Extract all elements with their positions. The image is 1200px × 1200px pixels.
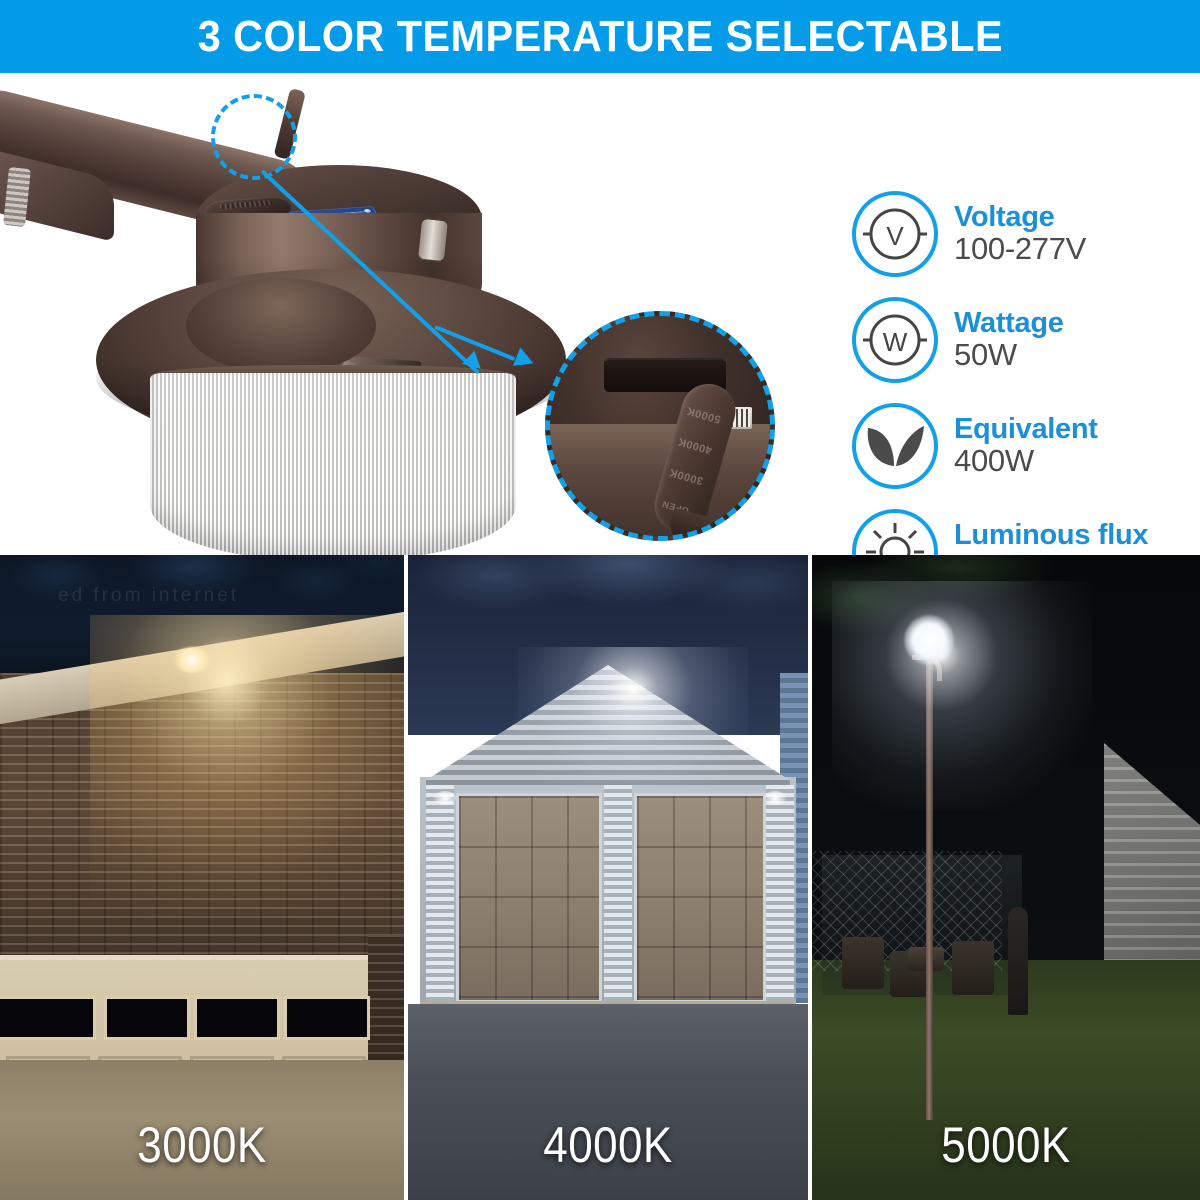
cover-marking-5000k: 5000K bbox=[685, 404, 722, 425]
cool-light-glow bbox=[832, 581, 1092, 811]
cct-switch-detail-callout: 5000K 4000K 3000K OPEN bbox=[545, 311, 775, 541]
spec-label-voltage: Voltage bbox=[954, 203, 1086, 233]
photo-label-4000k: 4000K bbox=[432, 1116, 784, 1174]
door-panel-grid bbox=[459, 796, 599, 1000]
garage-door-left bbox=[456, 793, 602, 1003]
spec-value-equivalent: 400W bbox=[954, 445, 1098, 477]
spec-label-equivalent: Equivalent bbox=[954, 415, 1098, 445]
photo-watermark: ed from internet bbox=[58, 585, 239, 607]
door-panel-grid bbox=[637, 796, 763, 1000]
spec-list: V Voltage 100-277V W bbox=[852, 181, 1188, 555]
patio-chair bbox=[952, 941, 994, 995]
photo-4000k: 4000K bbox=[408, 555, 808, 1200]
spec-row-equivalent: Equivalent 400W bbox=[852, 393, 1188, 499]
garage-door-right bbox=[634, 793, 766, 1003]
door-window bbox=[104, 996, 190, 1040]
photo-3000k: ed from internet 3000K bbox=[0, 555, 404, 1200]
spec-value-wattage: 50W bbox=[954, 339, 1064, 371]
door-window bbox=[284, 996, 370, 1040]
installed-lamp-glow bbox=[904, 615, 954, 665]
photo-label-3000k: 3000K bbox=[24, 1116, 380, 1174]
brick-wall bbox=[0, 673, 404, 973]
svg-text:W: W bbox=[883, 327, 908, 357]
neutral-light-glow bbox=[518, 647, 748, 797]
cover-marking-3000k: 3000K bbox=[668, 466, 705, 487]
spec-label-wattage: Wattage bbox=[954, 309, 1064, 339]
sun-icon bbox=[852, 509, 938, 555]
ribbed-lens-dome bbox=[150, 373, 516, 555]
photocell-sensor bbox=[416, 217, 450, 264]
spec-text-luminous-flux: Luminous flux 6000lm bbox=[954, 521, 1148, 555]
center-post bbox=[604, 785, 632, 1007]
product-infographic: 3 COLOR TEMPERATURE SELECTABLE bbox=[0, 0, 1200, 1200]
spec-text-voltage: Voltage 100-277V bbox=[954, 203, 1086, 264]
header-banner: 3 COLOR TEMPERATURE SELECTABLE bbox=[0, 0, 1200, 73]
patio-chair bbox=[842, 937, 884, 989]
spec-text-equivalent: Equivalent 400W bbox=[954, 415, 1098, 476]
corner-post bbox=[426, 785, 454, 1007]
spec-row-luminous-flux: Luminous flux 6000lm bbox=[852, 499, 1188, 555]
page-title: 3 COLOR TEMPERATURE SELECTABLE bbox=[197, 12, 1002, 62]
spec-row-wattage: W Wattage 50W bbox=[852, 287, 1188, 393]
spec-row-voltage: V Voltage 100-277V bbox=[852, 181, 1188, 287]
product-and-specs-area: 5000K 4000K 3000K OPEN CCT Toggle Switch bbox=[0, 73, 1200, 555]
product-image bbox=[0, 73, 580, 555]
wattage-meter-icon: W bbox=[852, 297, 938, 383]
door-window bbox=[0, 996, 96, 1040]
voltage-meter-icon: V bbox=[852, 191, 938, 277]
svg-text:V: V bbox=[886, 221, 904, 251]
color-temperature-comparison-strip: ed from internet 3000K bbox=[0, 555, 1200, 1200]
cover-marking-4000k: 4000K bbox=[676, 435, 713, 456]
soffit-light bbox=[434, 791, 456, 805]
switch-highlight-circle bbox=[211, 94, 297, 180]
spec-label-luminous-flux: Luminous flux bbox=[954, 521, 1148, 551]
spec-text-wattage: Wattage 50W bbox=[954, 309, 1064, 370]
door-window bbox=[194, 996, 280, 1040]
detail-photo: 5000K 4000K 3000K OPEN bbox=[550, 316, 770, 536]
soffit-light bbox=[764, 791, 786, 805]
photo-label-5000k: 5000K bbox=[835, 1116, 1176, 1174]
installed-lamp-glow bbox=[172, 647, 212, 673]
leaf-icon bbox=[852, 403, 938, 489]
patio-umbrella bbox=[1008, 907, 1028, 1015]
photo-5000k: 5000K bbox=[812, 555, 1200, 1200]
corner-post bbox=[766, 785, 794, 1007]
spec-value-voltage: 100-277V bbox=[954, 233, 1086, 265]
switch-cover-ridges bbox=[220, 200, 273, 209]
